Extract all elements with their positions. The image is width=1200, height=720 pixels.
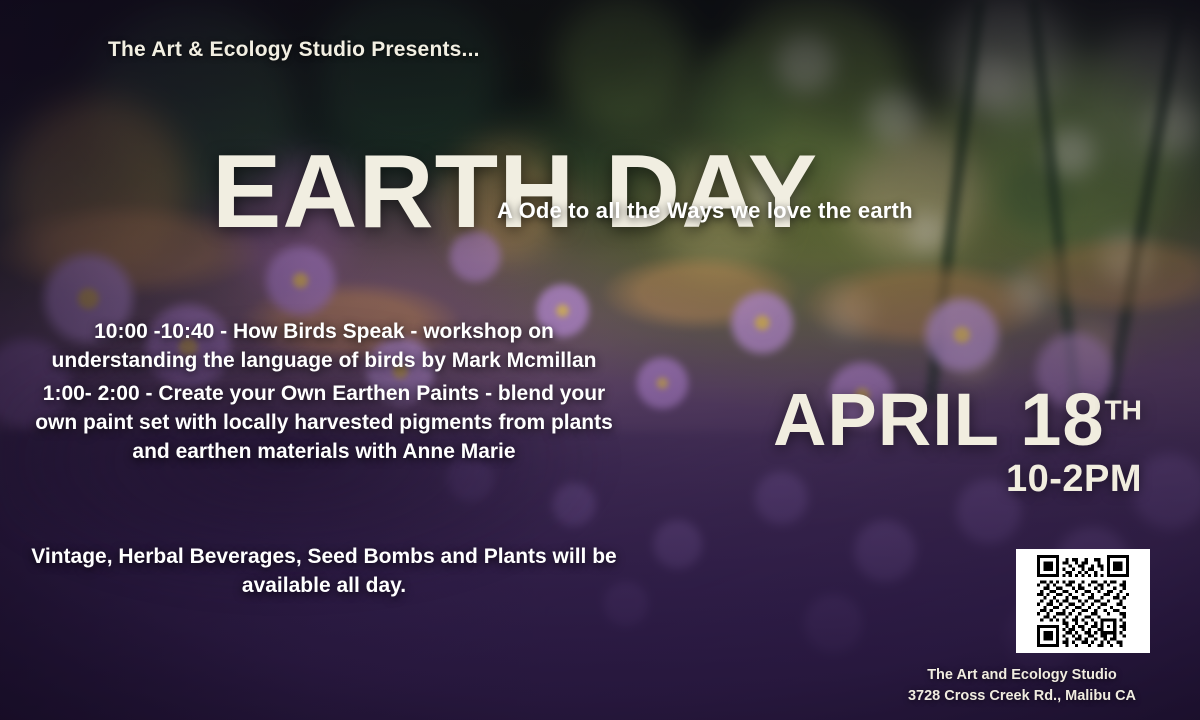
schedule-list: 10:00 -10:40 - How Birds Speak - worksho…: [24, 318, 624, 467]
page-title: EARTH DAY: [212, 140, 818, 244]
event-date-ordinal-suffix: TH: [1105, 394, 1142, 425]
poster-content: The Art & Ecology Studio Presents... EAR…: [0, 0, 1200, 720]
presenter-line: The Art & Ecology Studio Presents...: [108, 38, 480, 62]
venue-name: The Art and Ecology Studio: [872, 665, 1172, 686]
tagline: A Ode to all the Ways we love the earth: [497, 198, 913, 224]
schedule-item-morning: 10:00 -10:40 - How Birds Speak - worksho…: [24, 318, 624, 376]
event-date-month-day: APRIL 18: [773, 378, 1105, 461]
earth-day-event-poster: The Art & Ecology Studio Presents... EAR…: [0, 0, 1200, 720]
schedule-item-afternoon: 1:00- 2:00 - Create your Own Earthen Pai…: [24, 380, 624, 467]
availability-note: Vintage, Herbal Beverages, Seed Bombs an…: [24, 543, 624, 601]
event-date: APRIL 18TH: [773, 386, 1142, 454]
event-time-range: 10-2PM: [773, 460, 1142, 498]
qr-code-icon: [1022, 555, 1144, 647]
qr-code[interactable]: [1016, 549, 1150, 653]
footer-venue-info: The Art and Ecology Studio 3728 Cross Cr…: [872, 665, 1172, 706]
event-date-block: APRIL 18TH 10-2PM: [773, 386, 1142, 498]
venue-address: 3728 Cross Creek Rd., Malibu CA: [872, 686, 1172, 707]
